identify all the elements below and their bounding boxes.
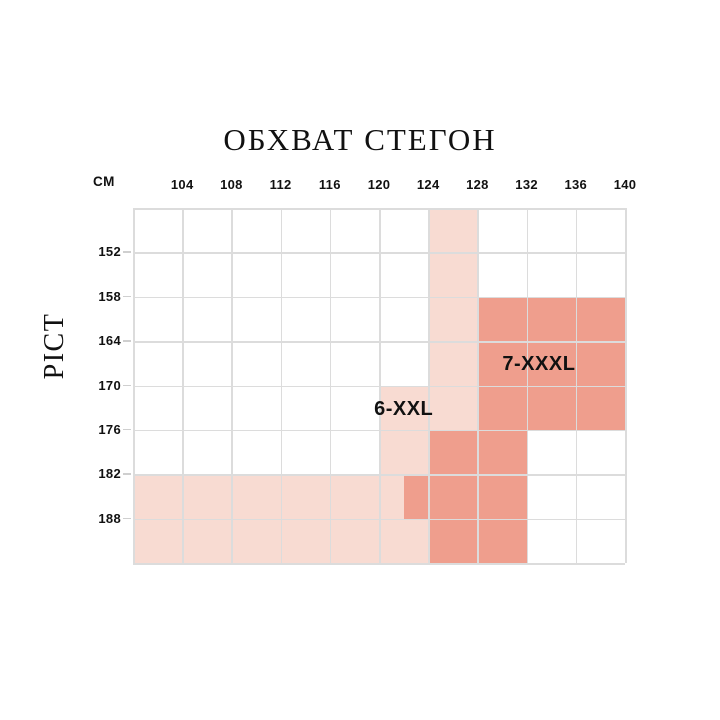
gridline-horizontal: [133, 208, 625, 210]
y-axis-tick-label: 158: [81, 289, 121, 304]
x-axis-tick-label: 140: [603, 177, 647, 192]
gridline-horizontal: [133, 430, 625, 432]
y-axis-tick-mark: [123, 473, 131, 475]
x-axis-tick-label: 132: [505, 177, 549, 192]
x-axis-tick-label: 128: [455, 177, 499, 192]
heatmap-cell: [428, 297, 477, 341]
plot-area: 1041081121161201241281321361401521581641…: [133, 208, 625, 563]
region-label-7-xxxl: 7-XXXL: [502, 353, 575, 376]
y-axis-tick-mark: [123, 340, 131, 342]
x-axis-tick-label: 104: [160, 177, 204, 192]
heatmap-cell: [477, 297, 625, 341]
y-axis-tick-label: 182: [81, 466, 121, 481]
heatmap-cell: [133, 519, 477, 563]
gridline-horizontal: [133, 563, 625, 565]
y-axis-title: РІСТ: [39, 286, 71, 406]
y-axis-tick-label: 164: [81, 333, 121, 348]
gridline-horizontal: [133, 386, 625, 388]
y-axis-tick-mark: [123, 296, 131, 298]
y-axis-tick-mark: [123, 518, 131, 520]
region-label-6-xxl: 6-XXL: [374, 398, 433, 421]
gridline-vertical: [625, 208, 627, 563]
x-axis-unit-label: СМ: [93, 174, 115, 189]
heatmap-cell: [477, 386, 625, 430]
y-axis-tick-label: 176: [81, 422, 121, 437]
gridline-horizontal: [133, 474, 625, 476]
chart-title: ОБХВАТ СТЕГОН: [0, 122, 720, 158]
gridline-horizontal: [133, 252, 625, 254]
x-axis-tick-label: 124: [406, 177, 450, 192]
heatmap-cell: [428, 208, 477, 252]
y-axis-tick-mark: [123, 385, 131, 387]
y-axis-tick-mark: [123, 429, 131, 431]
y-axis-tick-label: 170: [81, 378, 121, 393]
x-axis-tick-label: 120: [357, 177, 401, 192]
y-axis-tick-label: 188: [81, 511, 121, 526]
gridline-horizontal: [133, 341, 625, 343]
gridline-horizontal: [133, 519, 625, 521]
y-axis-tick-mark: [123, 251, 131, 253]
x-axis-tick-label: 136: [554, 177, 598, 192]
x-axis-tick-label: 108: [209, 177, 253, 192]
heatmap-cell: [428, 341, 477, 385]
heatmap-cell: [404, 474, 527, 518]
gridline-horizontal: [133, 297, 625, 299]
size-chart: ОБХВАТ СТЕГОН СМ РІСТ 104108112116120124…: [0, 0, 720, 720]
heatmap-cell: [428, 252, 477, 296]
x-axis-tick-label: 116: [308, 177, 352, 192]
x-axis-tick-label: 112: [259, 177, 303, 192]
y-axis-tick-label: 152: [81, 244, 121, 259]
